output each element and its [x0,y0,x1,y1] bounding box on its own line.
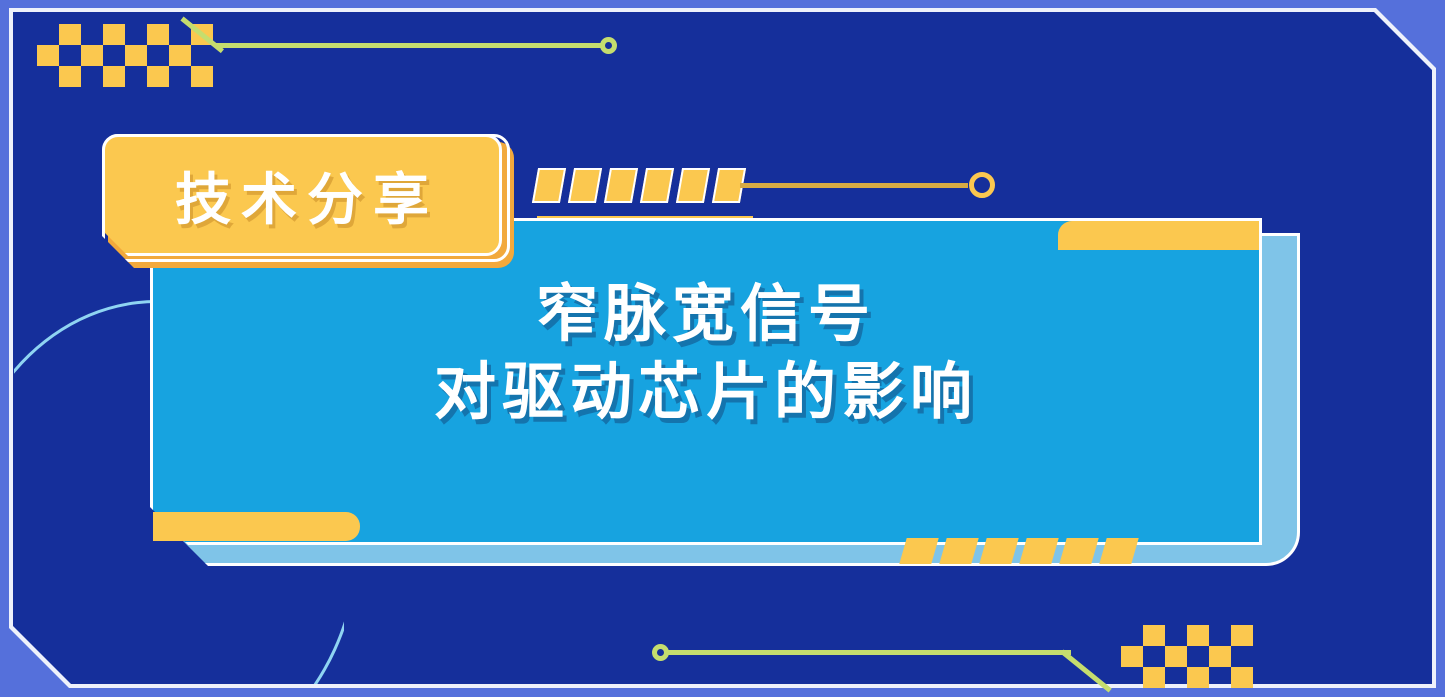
checker-cell [1187,667,1209,688]
checker-cell [59,66,81,87]
checker-cell [1165,646,1187,667]
green-circle-top-icon [600,37,617,54]
yellow-dash [568,168,602,203]
checker-cell [1143,625,1165,646]
checker-cell [103,66,125,87]
yellow-circle-icon [969,172,995,198]
checker-cell [1187,625,1209,646]
checker-cell [1121,646,1143,667]
checker-cell [1143,667,1165,688]
checker-cell [1209,646,1231,667]
yellow-dash [604,168,638,203]
checker-pattern-bottom-right-icon [1121,625,1261,690]
checker-pattern-top-left-icon [37,24,207,88]
checker-cell [1231,667,1253,688]
checker-cell [1231,625,1253,646]
yellow-slanted-bar [1059,538,1098,564]
checker-cell [147,24,169,45]
badge-technology-sharing[interactable]: 技术分享 [102,134,502,256]
yellow-pin-line-icon [740,183,968,188]
yellow-dash-row-icon [535,168,751,203]
green-line-horizontal-bottom-icon [667,650,1071,655]
checker-cell [103,24,125,45]
panel-accent-top-right [1058,221,1259,250]
yellow-dash [640,168,674,203]
green-line-horizontal-top-icon [215,43,601,48]
yellow-slanted-bar [1019,538,1058,564]
yellow-slanted-bar [939,538,978,564]
green-circle-bottom-icon [652,644,669,661]
checker-cell [169,45,191,66]
panel-accent-bottom-left [153,512,360,541]
yellow-slanted-bars-icon [903,538,1143,564]
yellow-dash [532,168,566,203]
yellow-slanted-bar [899,538,938,564]
poster-canvas: 窄脉宽信号 对驱动芯片的影响 技术分享 [0,0,1445,697]
checker-cell [37,45,59,66]
checker-cell [191,66,213,87]
yellow-dash [676,168,710,203]
yellow-slanted-bar [1099,538,1138,564]
checker-cell [59,24,81,45]
checker-cell [125,45,147,66]
checker-cell [147,66,169,87]
checker-cell [81,45,103,66]
yellow-slanted-bar [979,538,1018,564]
badge-label: 技术分享 [165,155,439,236]
